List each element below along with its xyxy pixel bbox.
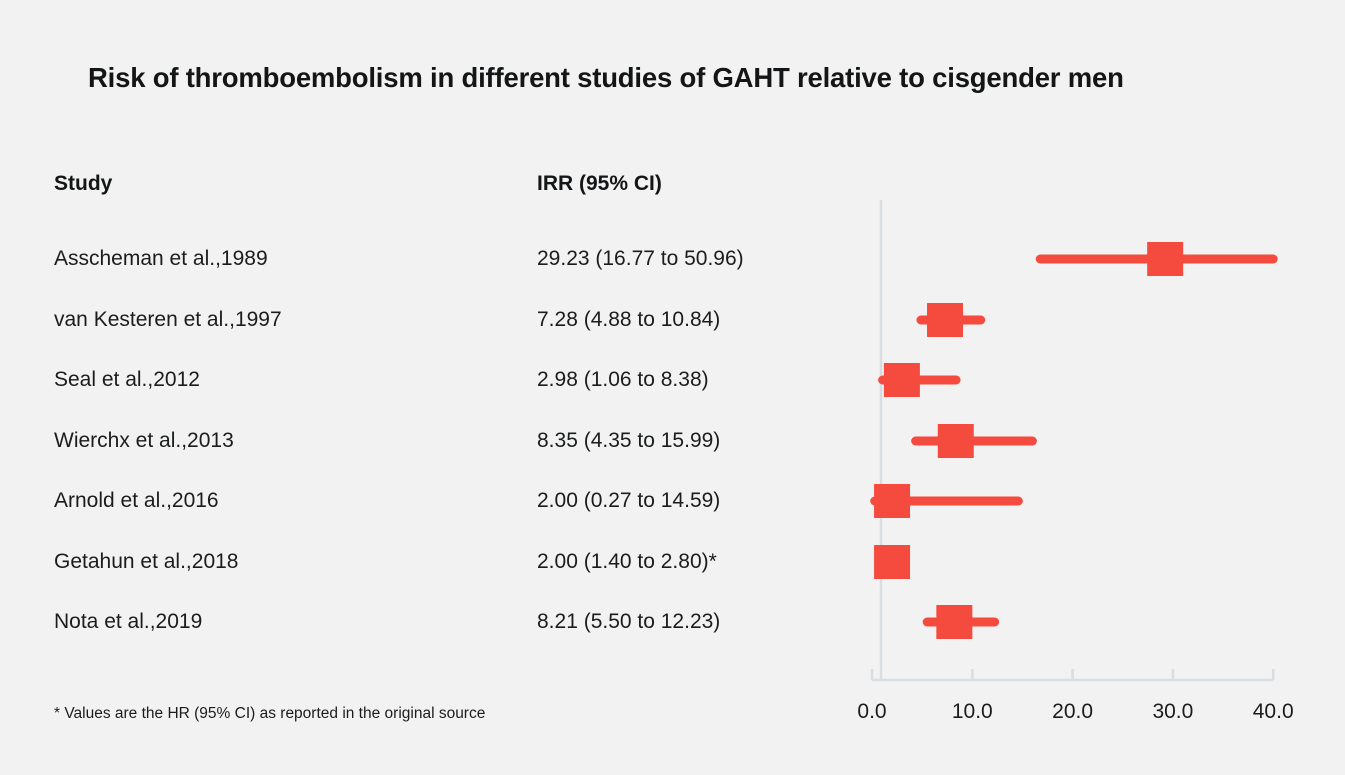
footnote: * Values are the HR (95% CI) as reported… — [54, 705, 485, 723]
irr-value: 8.21 (5.50 to 12.23) — [537, 605, 720, 639]
x-axis-tick-label: 20.0 — [1052, 700, 1093, 724]
study-name: Getahun et al.,2018 — [54, 545, 238, 579]
forest-plot-figure: Risk of thromboembolism in different stu… — [0, 0, 1345, 775]
x-axis-tick-label: 30.0 — [1152, 700, 1193, 724]
study-name: Seal et al.,2012 — [54, 363, 200, 397]
study-name: Wierchx et al.,2013 — [54, 424, 234, 458]
irr-value: 8.35 (4.35 to 15.99) — [537, 424, 720, 458]
table-row: Getahun et al.,20182.00 (1.40 to 2.80)* — [0, 545, 1345, 579]
study-rows: Asscheman et al.,198929.23 (16.77 to 50.… — [0, 0, 1345, 775]
study-name: Arnold et al.,2016 — [54, 484, 219, 518]
table-row: Seal et al.,20122.98 (1.06 to 8.38) — [0, 363, 1345, 397]
table-row: Arnold et al.,20162.00 (0.27 to 14.59) — [0, 484, 1345, 518]
table-row: Asscheman et al.,198929.23 (16.77 to 50.… — [0, 242, 1345, 276]
table-row: Nota et al.,20198.21 (5.50 to 12.23) — [0, 605, 1345, 639]
study-name: van Kesteren et al.,1997 — [54, 303, 282, 337]
study-name: Asscheman et al.,1989 — [54, 242, 268, 276]
irr-value: 2.00 (0.27 to 14.59) — [537, 484, 720, 518]
irr-value: 7.28 (4.88 to 10.84) — [537, 303, 720, 337]
table-row: Wierchx et al.,20138.35 (4.35 to 15.99) — [0, 424, 1345, 458]
table-row: van Kesteren et al.,19977.28 (4.88 to 10… — [0, 303, 1345, 337]
irr-value: 2.98 (1.06 to 8.38) — [537, 363, 709, 397]
x-axis-tick-label: 10.0 — [952, 700, 993, 724]
irr-value: 2.00 (1.40 to 2.80)* — [537, 545, 717, 579]
irr-value: 29.23 (16.77 to 50.96) — [537, 242, 744, 276]
x-axis-tick-label: 0.0 — [857, 700, 886, 724]
study-name: Nota et al.,2019 — [54, 605, 202, 639]
x-axis-tick-label: 40.0 — [1253, 700, 1294, 724]
